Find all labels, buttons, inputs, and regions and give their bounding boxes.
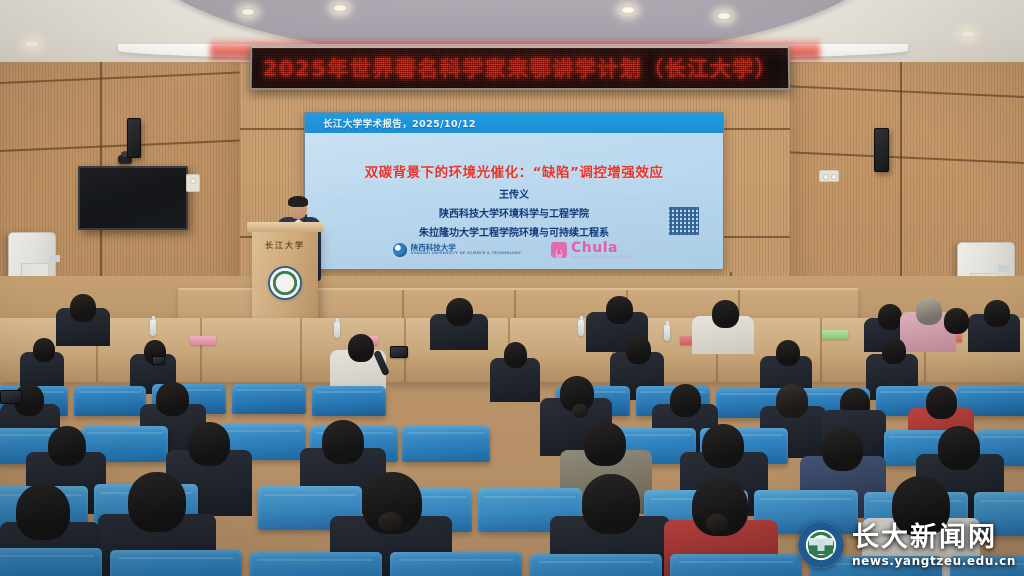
smartphone: [0, 390, 22, 404]
seat: [74, 386, 146, 416]
audience-head: [48, 426, 86, 466]
chula-emblem-icon: [551, 242, 567, 258]
audience-head: [626, 336, 651, 364]
audience-head: [984, 300, 1010, 327]
ceiling-downlight: [716, 12, 732, 20]
audience-head: [33, 338, 55, 362]
speaker-hair: [288, 196, 308, 207]
audience-head: [926, 386, 957, 419]
sust-logo-sub: SHAANXI UNIVERSITY OF SCIENCE & TECHNOLO…: [411, 252, 521, 256]
seat: [390, 552, 522, 576]
watermark-url: news.yangtzeu.edu.cn: [852, 555, 1016, 567]
ceiling-downlight: [960, 30, 976, 38]
sust-logo-text: 陕西科技大学 SHAANXI UNIVERSITY OF SCIENCE & T…: [411, 244, 521, 256]
wall-speaker-left: [127, 118, 141, 158]
audience-head: [878, 304, 902, 330]
watermark-text: 长大新闻网 news.yangtzeu.edu.cn: [852, 524, 1016, 567]
seat: [110, 550, 242, 576]
audience-head: [822, 428, 863, 471]
audience-head: [446, 298, 473, 326]
slide-title: 双碳背景下的环境光催化：“缺陷”调控增强效应: [305, 161, 723, 181]
audience-head: [882, 338, 906, 364]
chula-logo-sub: CHULALONGKORN UNIVERSITY: [571, 255, 635, 259]
lecture-hall-photo: 2025年世界著名科学家来鄂讲学计划（长江大学） 长江大学学术报告，2025/1…: [0, 0, 1024, 576]
slide-affiliation-1: 陕西科技大学环境科学与工程学院: [305, 205, 723, 220]
watermark: 长大新闻网 news.yangtzeu.edu.cn: [798, 522, 1016, 568]
hair-bun: [706, 514, 728, 533]
chula-logo-text: Chula CHULALONGKORN UNIVERSITY: [571, 241, 635, 259]
logo-chula: Chula CHULALONGKORN UNIVERSITY: [551, 241, 635, 259]
led-banner-text: 2025年世界著名科学家来鄂讲学计划（长江大学）: [252, 53, 788, 83]
chula-logo-name: Chula: [571, 241, 635, 255]
audience-head: [606, 296, 633, 324]
seat: [250, 552, 382, 576]
audience-head: [916, 298, 942, 325]
presentation-slide: 长江大学学术报告，2025/10/12 双碳背景下的环境光催化：“缺陷”调控增强…: [305, 113, 723, 269]
seat: [0, 548, 102, 576]
projection-screen: 长江大学学术报告，2025/10/12 双碳背景下的环境光催化：“缺陷”调控增强…: [304, 112, 724, 270]
slide-header-bar: 长江大学学术报告，2025/10/12: [305, 113, 723, 133]
audience-head: [188, 422, 230, 466]
ceiling-downlight: [332, 4, 348, 12]
seat: [530, 554, 662, 576]
wall-tv-left: [78, 166, 188, 230]
audience-head: [156, 382, 189, 416]
audience-head: [702, 424, 744, 468]
audience-head: [322, 420, 364, 464]
seat: [670, 554, 802, 576]
audience-head: [582, 474, 640, 534]
university-seal-icon: [268, 266, 302, 300]
audience-head: [776, 340, 800, 366]
slide-author: 王传义: [305, 186, 723, 201]
wall-socket-left: [186, 174, 200, 192]
audience-head: [348, 334, 374, 362]
audience-head: [128, 472, 186, 532]
podium-nameplate: 长江大学: [252, 240, 318, 251]
sust-emblem-icon: [393, 243, 407, 257]
audience-head: [938, 426, 980, 470]
hair-bun: [378, 512, 402, 532]
audience-head: [670, 384, 701, 417]
ceiling-downlight: [240, 8, 256, 16]
audience-head: [16, 484, 70, 540]
hair-bun: [572, 404, 588, 418]
wall-speaker-right: [874, 128, 889, 172]
audience-head: [584, 422, 626, 466]
seat: [232, 384, 306, 414]
ceiling-downlight: [620, 6, 636, 14]
logo-sust: 陕西科技大学 SHAANXI UNIVERSITY OF SCIENCE & T…: [393, 243, 521, 257]
smartphone: [390, 346, 408, 358]
audience-head: [712, 300, 739, 328]
seat: [312, 386, 386, 416]
podium-top: [247, 222, 323, 232]
audience-head: [776, 384, 808, 418]
audience-head: [70, 294, 96, 322]
slide-logo-row: 陕西科技大学 SHAANXI UNIVERSITY OF SCIENCE & T…: [305, 237, 723, 263]
slide-header-text: 长江大学学术报告，2025/10/12: [305, 116, 476, 130]
led-banner: 2025年世界著名科学家来鄂讲学计划（长江大学）: [250, 46, 791, 90]
watermark-site-name: 长大新闻网: [852, 524, 997, 551]
audience-head: [944, 308, 969, 334]
ceiling-downlight: [24, 40, 40, 48]
audience-head: [504, 342, 527, 368]
yangtze-university-seal-icon: [798, 522, 844, 568]
wall-socket-right: [819, 170, 839, 182]
smartphone: [152, 356, 165, 365]
seat: [402, 426, 490, 462]
qr-code-icon: [669, 207, 699, 235]
